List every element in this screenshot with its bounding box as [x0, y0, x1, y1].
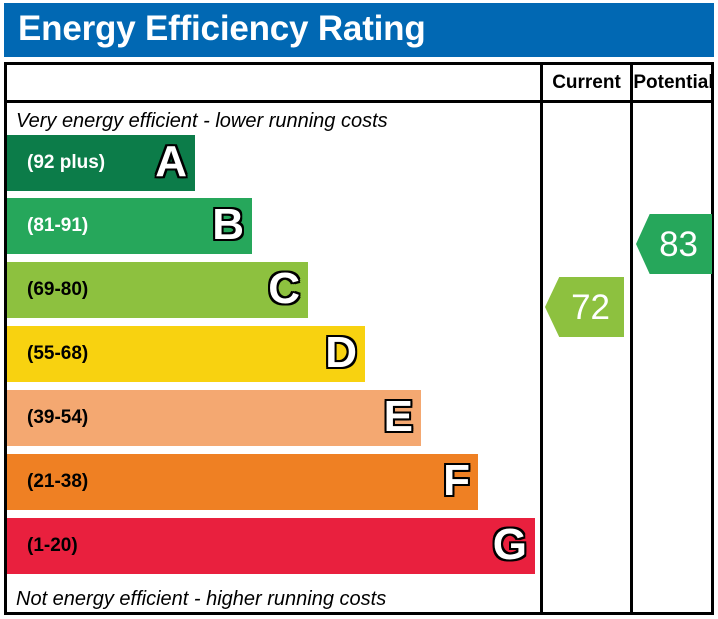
- band-row-d: (55-68) D: [7, 326, 365, 382]
- band-row-c: (69-80) C: [7, 262, 308, 318]
- band-range-f: (21-38): [27, 471, 88, 493]
- caption-not-efficient: Not energy efficient - higher running co…: [16, 588, 386, 611]
- band-range-g: (1-20): [27, 535, 78, 557]
- current-rating-marker: 72: [545, 277, 624, 337]
- current-rating-value: 72: [571, 290, 610, 325]
- band-row-a: (92 plus) A: [7, 135, 195, 191]
- band-row-f: (21-38) F: [7, 454, 478, 510]
- band-letter-b: B: [212, 203, 244, 247]
- potential-rating-marker: 83: [636, 214, 712, 274]
- band-row-b: (81-91) B: [7, 198, 252, 254]
- band-letter-e: E: [384, 395, 413, 439]
- potential-column-divider: [630, 62, 633, 615]
- header-row-divider: [4, 100, 714, 103]
- band-letter-c: C: [268, 267, 300, 311]
- band-range-b: (81-91): [27, 215, 88, 237]
- band-range-d: (55-68): [27, 343, 88, 365]
- band-range-a: (92 plus): [27, 152, 105, 174]
- band-letter-d: D: [325, 331, 357, 375]
- band-range-e: (39-54): [27, 407, 88, 429]
- band-row-e: (39-54) E: [7, 390, 421, 446]
- band-range-c: (69-80): [27, 279, 88, 301]
- column-header-potential: Potential: [633, 68, 714, 98]
- band-letter-g: G: [493, 523, 527, 567]
- column-header-current: Current: [543, 68, 630, 98]
- chart-title-bar: Energy Efficiency Rating: [4, 3, 714, 57]
- current-column-divider: [540, 62, 543, 615]
- energy-efficiency-rating-chart: Energy Efficiency Rating Current Potenti…: [0, 0, 718, 619]
- page-title: Energy Efficiency Rating: [18, 9, 426, 49]
- caption-very-efficient: Very energy efficient - lower running co…: [16, 110, 388, 133]
- band-letter-f: F: [443, 459, 470, 503]
- band-row-g: (1-20) G: [7, 518, 535, 574]
- band-letter-a: A: [155, 140, 187, 184]
- potential-rating-value: 83: [659, 227, 698, 262]
